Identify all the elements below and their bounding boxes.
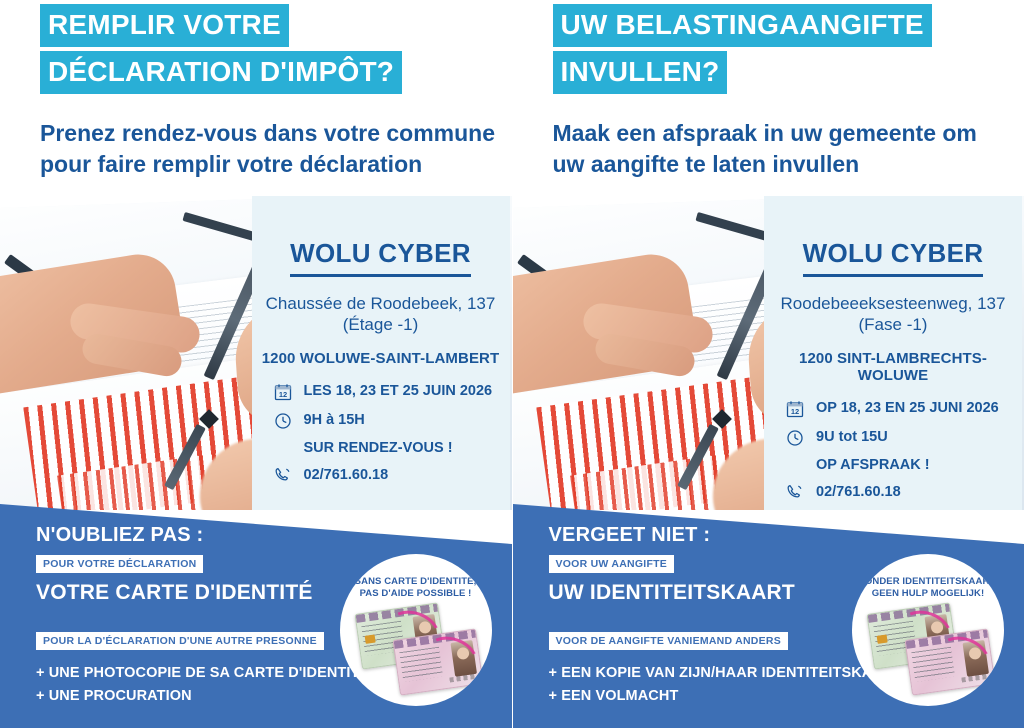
reminder-secondary-list: + UNE PHOTOCOPIE DE SA CARTE D'IDENTITÉ … bbox=[36, 665, 346, 704]
venue-address: Chaussée de Roodebeek, 137 (Étage -1) bbox=[252, 293, 510, 336]
badge-warning-text: ZONDER IDENTITEITSKAART, GEEN HULP MOGEL… bbox=[852, 576, 1004, 600]
venue-details-list: 12 OP 18, 23 EN 25 JUNI 2026 9U tot 15U bbox=[764, 400, 1022, 502]
detail-hours: 9H à 15H bbox=[304, 413, 365, 428]
detail-appointment: OP AFSPRAAK ! bbox=[816, 458, 930, 473]
clock-icon bbox=[786, 429, 804, 447]
id-card-pink-icon bbox=[392, 628, 483, 695]
svg-text:12: 12 bbox=[791, 407, 799, 416]
venue-city: 1200 SINT-LAMBRECHTS-WOLUWE bbox=[764, 350, 1022, 384]
id-card-warning-badge-fr: SANS CARTE D'IDENTITÉ, PAS D'AIDE POSSIB… bbox=[340, 554, 492, 706]
headline-line-2: DÉCLARATION D'IMPÔT? bbox=[40, 51, 402, 94]
venue-city: 1200 WOLUWE-SAINT-LAMBERT bbox=[252, 350, 510, 367]
headline-line-1: UW BELASTINGAANGIFTE bbox=[553, 4, 932, 47]
detail-phone[interactable]: 02/761.60.18 bbox=[304, 468, 389, 483]
venue-name: WOLU CYBER bbox=[290, 238, 471, 277]
header-fr: REMPLIR VOTRE DÉCLARATION D'IMPÔT? Prene… bbox=[0, 0, 512, 196]
reminder-heading: N'OUBLIEZ PAS : bbox=[36, 524, 346, 547]
detail-row-hours: 9H à 15H bbox=[274, 412, 510, 430]
headline-line-2: INVULLEN? bbox=[553, 51, 728, 94]
id-card-warning-badge-nl: ZONDER IDENTITEITSKAART, GEEN HULP MOGEL… bbox=[852, 554, 1004, 706]
reminder-tag-primary: POUR VOTRE DÉCLARATION bbox=[36, 555, 203, 573]
calendar-icon: 12 bbox=[274, 383, 292, 401]
header-nl: UW BELASTINGAANGIFTE INVULLEN? Maak een … bbox=[513, 0, 1024, 196]
badge-warning-line-1: ZONDER IDENTITEITSKAART, bbox=[852, 576, 1004, 588]
panel-fr: REMPLIR VOTRE DÉCLARATION D'IMPÔT? Prene… bbox=[0, 0, 512, 728]
badge-warning-line-2: GEEN HULP MOGELIJK! bbox=[852, 588, 1004, 600]
svg-text:12: 12 bbox=[278, 390, 286, 399]
venue-address: Roodebeeeksesteenweg, 137 (Fase -1) bbox=[764, 293, 1022, 336]
venue-address-line-2: (Étage -1) bbox=[252, 314, 510, 335]
detail-row-dates: 12 OP 18, 23 EN 25 JUNI 2026 bbox=[786, 400, 1022, 418]
detail-row-dates: 12 LES 18, 23 ET 25 JUIN 2026 bbox=[274, 383, 510, 401]
info-card-nl: WOLU CYBER Roodebeeeksesteenweg, 137 (Fa… bbox=[764, 190, 1022, 510]
headline-fr: REMPLIR VOTRE DÉCLARATION D'IMPÔT? bbox=[40, 4, 402, 98]
phone-icon bbox=[274, 466, 292, 484]
venue-details-list: 12 LES 18, 23 ET 25 JUIN 2026 9H à 15H bbox=[252, 383, 510, 485]
detail-hours: 9U tot 15U bbox=[816, 430, 888, 445]
poster: REMPLIR VOTRE DÉCLARATION D'IMPÔT? Prene… bbox=[0, 0, 1024, 728]
reminder-content-fr: N'OUBLIEZ PAS : POUR VOTRE DÉCLARATION V… bbox=[36, 524, 346, 704]
clock-icon bbox=[274, 412, 292, 430]
headline-line-1: REMPLIR VOTRE bbox=[40, 4, 289, 47]
detail-dates: LES 18, 23 ET 25 JUIN 2026 bbox=[304, 384, 493, 399]
detail-phone[interactable]: 02/761.60.18 bbox=[816, 485, 901, 500]
venue-address-line-1: Roodebeeeksesteenweg, 137 bbox=[764, 293, 1022, 314]
reminder-list-item: + UNE PROCURATION bbox=[36, 688, 346, 704]
reminder-list-item: + UNE PHOTOCOPIE DE SA CARTE D'IDENTITÉ bbox=[36, 665, 346, 681]
venue-address-line-1: Chaussée de Roodebeek, 137 bbox=[252, 293, 510, 314]
venue-address-line-2: (Fase -1) bbox=[764, 314, 1022, 335]
reminder-tag-secondary: VOOR DE AANGIFTE VANIEMAND ANDERS bbox=[549, 632, 788, 650]
detail-row-appointment: OP AFSPRAAK ! bbox=[786, 458, 1022, 473]
detail-row-phone: 02/761.60.18 bbox=[786, 483, 1022, 501]
badge-warning-line-2: PAS D'AIDE POSSIBLE ! bbox=[340, 588, 492, 600]
phone-icon bbox=[786, 483, 804, 501]
reminder-content-nl: VERGEET NIET : VOOR UW AANGIFTE UW IDENT… bbox=[549, 524, 859, 704]
detail-row-appointment: SUR RENDEZ-VOUS ! bbox=[274, 441, 510, 456]
venue-name: WOLU CYBER bbox=[803, 238, 984, 277]
reminder-tag-primary: VOOR UW AANGIFTE bbox=[549, 555, 675, 573]
reminder-primary-item: UW IDENTITEITSKAART bbox=[549, 581, 859, 605]
calendar-icon: 12 bbox=[786, 400, 804, 418]
reminder-list-item: + EEN VOLMACHT bbox=[549, 688, 859, 704]
id-cards-illustration bbox=[852, 604, 1004, 700]
subheadline-nl: Maak een afspraak in uw gemeente om uw a… bbox=[553, 118, 1013, 179]
reminder-heading: VERGEET NIET : bbox=[549, 524, 859, 547]
detail-row-phone: 02/761.60.18 bbox=[274, 466, 510, 484]
badge-warning-text: SANS CARTE D'IDENTITÉ, PAS D'AIDE POSSIB… bbox=[340, 576, 492, 600]
detail-dates: OP 18, 23 EN 25 JUNI 2026 bbox=[816, 401, 999, 416]
id-card-chip bbox=[364, 634, 375, 643]
id-card-pink-icon bbox=[905, 628, 996, 695]
info-card-fr: WOLU CYBER Chaussée de Roodebeek, 137 (É… bbox=[252, 190, 510, 510]
detail-row-hours: 9U tot 15U bbox=[786, 429, 1022, 447]
reminder-secondary-list: + EEN KOPIE VAN ZIJN/HAAR IDENTITEITSKAA… bbox=[549, 665, 859, 704]
panel-nl: UW BELASTINGAANGIFTE INVULLEN? Maak een … bbox=[512, 0, 1024, 728]
reminder-primary-item: VOTRE CARTE D'IDENTITÉ bbox=[36, 581, 346, 605]
detail-appointment: SUR RENDEZ-VOUS ! bbox=[304, 441, 453, 456]
id-card-chip bbox=[877, 634, 888, 643]
headline-nl: UW BELASTINGAANGIFTE INVULLEN? bbox=[553, 4, 932, 98]
reminder-tag-secondary: POUR LA D'ÉCLARATION D'UNE AUTRE PRESONN… bbox=[36, 632, 324, 650]
reminder-list-item: + EEN KOPIE VAN ZIJN/HAAR IDENTITEITSKAA… bbox=[549, 665, 859, 681]
subheadline-fr: Prenez rendez-vous dans votre commune po… bbox=[40, 118, 500, 179]
id-cards-illustration bbox=[340, 604, 492, 700]
badge-warning-line-1: SANS CARTE D'IDENTITÉ, bbox=[340, 576, 492, 588]
